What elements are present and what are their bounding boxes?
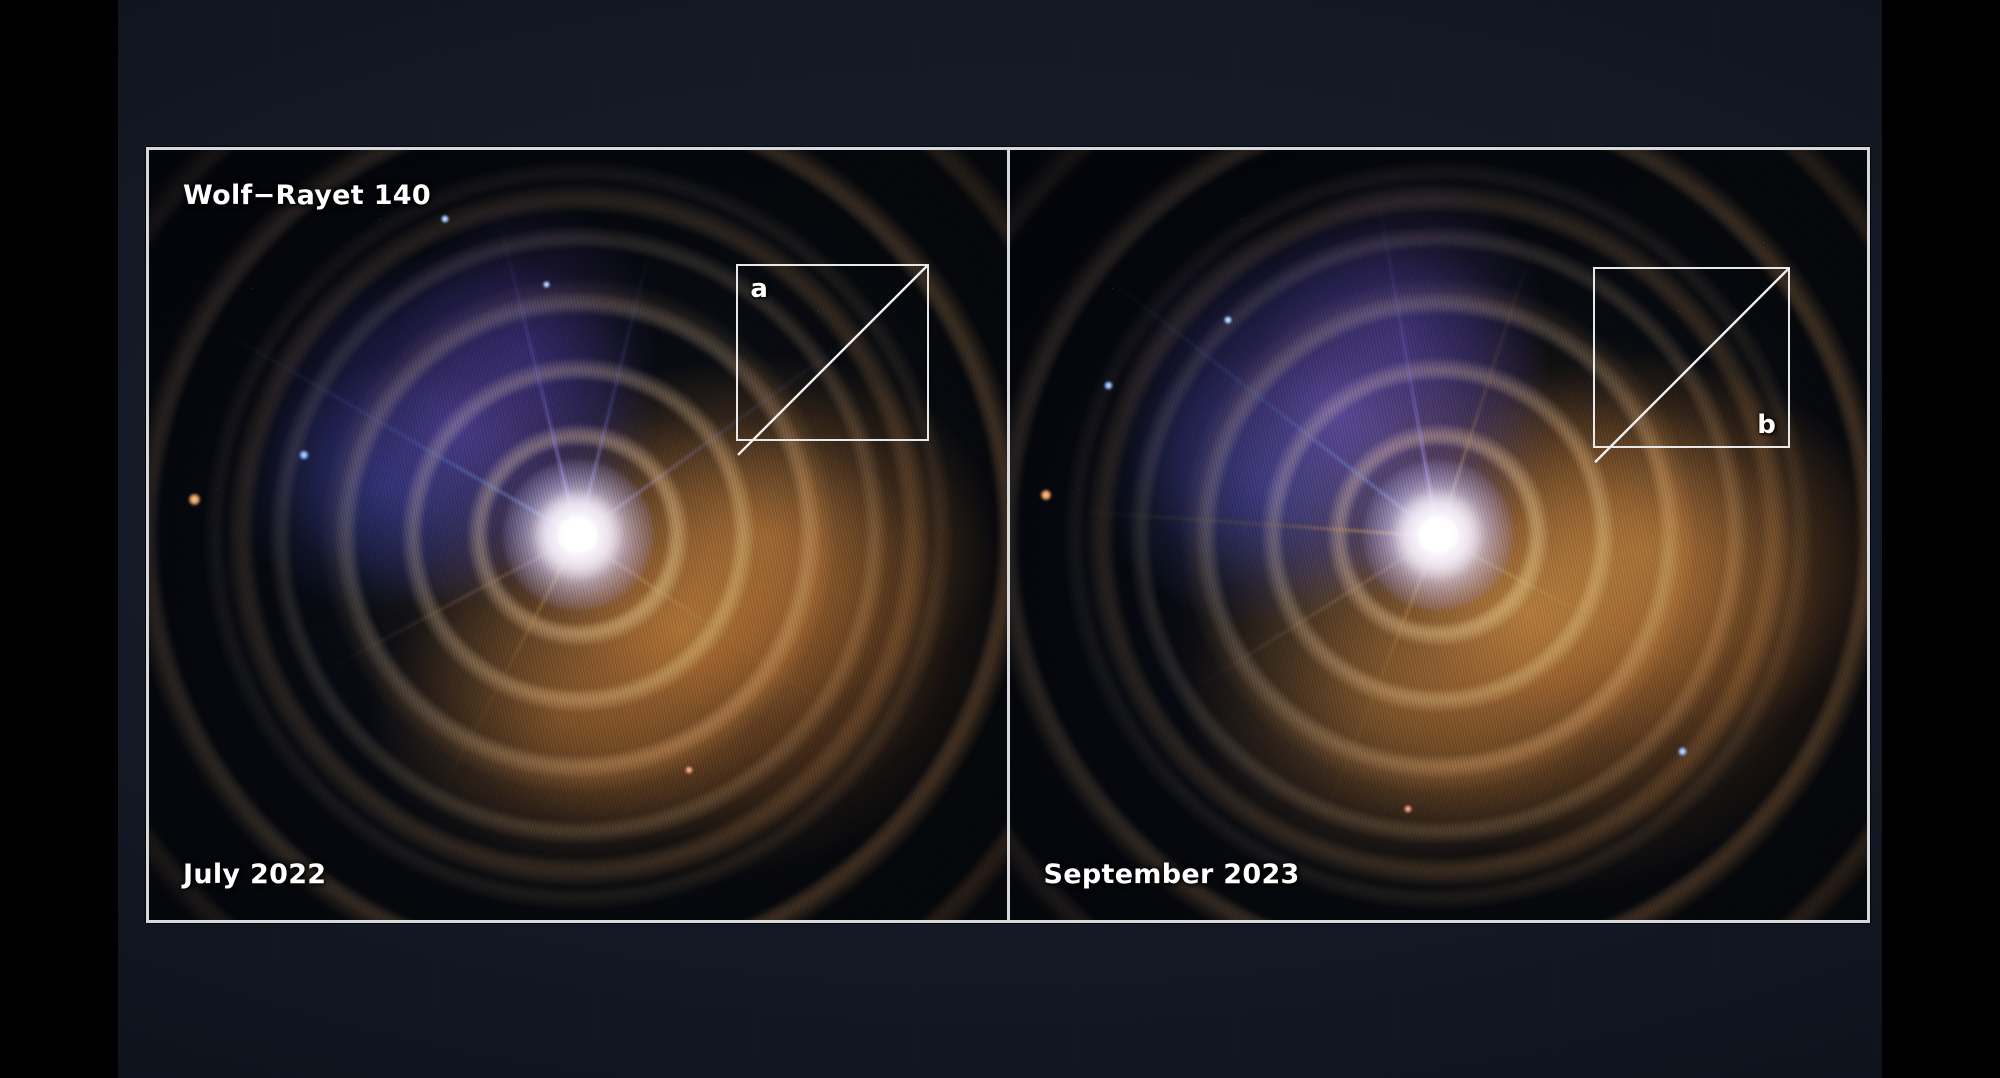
inset-box-label-b: b [1757,412,1776,438]
star-red-star-bottom [1404,805,1412,813]
inset-box-label-a: a [750,276,768,302]
star-blue-star-upper-left [1104,381,1113,390]
star-blue-star-top [1224,316,1232,324]
object-title-label: Wolf−Rayet 140 [183,180,431,211]
star-orange-star-left [1040,489,1052,501]
image-panel-september-2023[interactable]: b September 2023 [1007,150,1868,920]
date-label-july-2022: July 2022 [183,859,326,890]
star-blue-star-top [441,215,449,223]
star-red-star-right [685,766,693,774]
screenshot-stage: a Wolf−Rayet 140 July 2022 [0,0,2000,1078]
image-panel-july-2022[interactable]: a Wolf−Rayet 140 July 2022 [149,150,1007,920]
image-noise-texture [1010,150,1868,920]
inset-box-b[interactable]: b [1593,267,1790,448]
date-label-september-2023: September 2023 [1044,859,1300,890]
comparison-figure: a Wolf−Rayet 140 July 2022 [146,147,1870,923]
star-orange-star-left [188,493,201,506]
inset-box-a[interactable]: a [736,264,929,441]
